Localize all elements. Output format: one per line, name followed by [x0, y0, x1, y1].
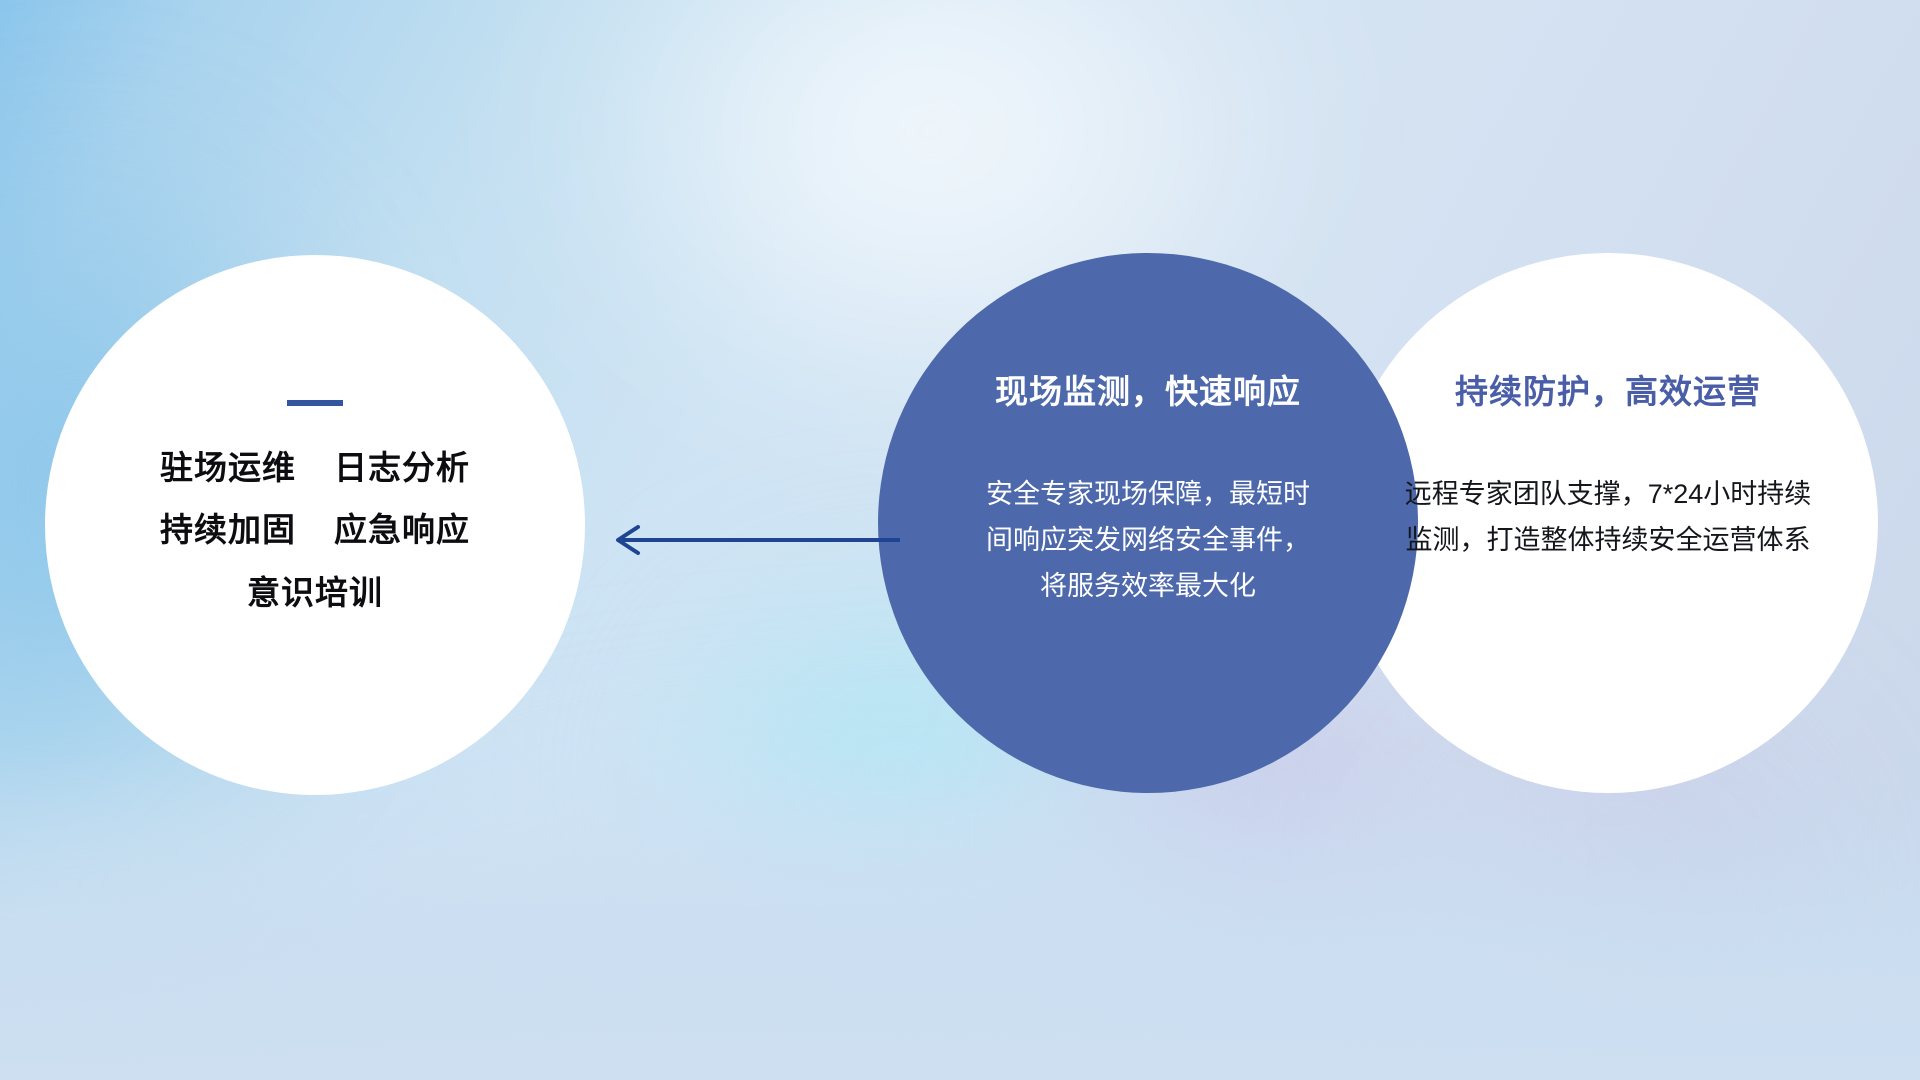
keyword-item: 日志分析 — [334, 450, 470, 486]
middle-circle-content: 现场监测，快速响应 安全专家现场保障，最短时间响应突发网络安全事件，将服务效率最… — [878, 253, 1418, 793]
keyword-item: 应急响应 — [334, 512, 470, 548]
arrow-left-icon — [600, 520, 900, 560]
right-circle-title: 持续防护，高效运营 — [1455, 365, 1761, 413]
keyword-item: 意识培训 — [247, 575, 383, 611]
keyword-row: 持续加固 应急响应 — [160, 512, 470, 548]
left-circle-content: 驻场运维 日志分析 持续加固 应急响应 意识培训 — [45, 255, 585, 795]
background-bottom-fade — [0, 750, 1920, 1080]
middle-circle-body: 安全专家现场保障，最短时间响应突发网络安全事件，将服务效率最大化 — [983, 471, 1313, 609]
keyword-row: 意识培训 — [247, 575, 383, 611]
keyword-item: 驻场运维 — [160, 450, 296, 486]
middle-circle-title: 现场监测，快速响应 — [995, 365, 1301, 413]
right-circle-body: 远程专家团队支撑，7*24小时持续监测，打造整体持续安全运营体系 — [1398, 471, 1818, 563]
connector-arrow — [600, 520, 900, 560]
keyword-item: 持续加固 — [160, 512, 296, 548]
left-keyword-list: 驻场运维 日志分析 持续加固 应急响应 意识培训 — [160, 450, 470, 611]
right-circle-content: 持续防护，高效运营 远程专家团队支撑，7*24小时持续监测，打造整体持续安全运营… — [1338, 253, 1878, 793]
accent-dash — [287, 400, 343, 406]
keyword-row: 驻场运维 日志分析 — [160, 450, 470, 486]
slide-canvas: 驻场运维 日志分析 持续加固 应急响应 意识培训 现场监测，快速响应 安全专家现… — [0, 0, 1920, 1080]
